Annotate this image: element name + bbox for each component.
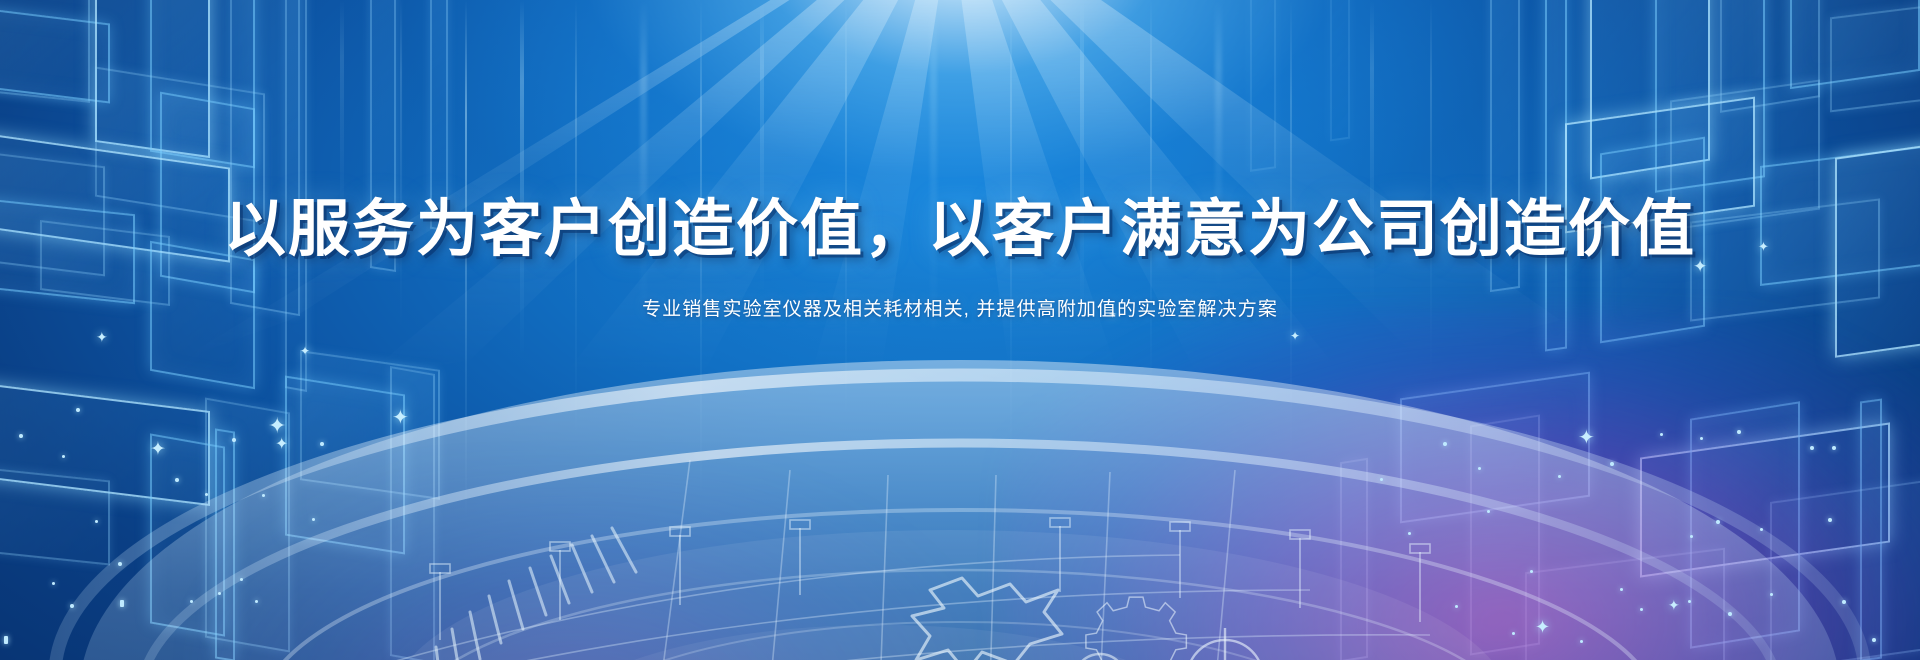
particle-dot xyxy=(1580,640,1583,643)
particle-star: ✦ xyxy=(1535,618,1550,636)
particle-dot xyxy=(262,494,265,497)
particle-dot xyxy=(1828,518,1832,522)
particle-dot xyxy=(1690,535,1693,538)
particle-dot xyxy=(1760,528,1763,531)
particle-dot xyxy=(1408,532,1411,535)
particle-dot xyxy=(1842,600,1846,604)
particle-dot xyxy=(1380,478,1383,481)
particle-dot xyxy=(205,493,208,496)
particle-dot xyxy=(1530,570,1533,573)
particle-star: ✦ xyxy=(1668,598,1680,612)
particle-star: ✦ xyxy=(275,437,288,453)
particle-dot xyxy=(240,578,243,581)
particle-dot xyxy=(1700,437,1703,440)
particle-dot xyxy=(95,520,98,523)
particle-dot xyxy=(1728,612,1732,616)
particle-dot xyxy=(1810,446,1814,450)
particle-dot xyxy=(1832,446,1836,450)
particle-dot xyxy=(320,442,324,446)
particle-dot xyxy=(1558,475,1561,478)
particle-dot xyxy=(19,434,23,438)
particle-dot xyxy=(76,408,80,412)
particle-dot xyxy=(1620,588,1623,591)
particle-dot xyxy=(62,455,65,458)
hero-banner: ✦ ✦ ✦ ✦ ✦ ✦ ✦ ✦ ✦ xyxy=(0,0,1920,660)
particle-star: ✦ xyxy=(268,415,286,437)
particle-dot xyxy=(1455,605,1458,608)
particle-dot xyxy=(1443,442,1447,446)
particle-dot xyxy=(118,562,122,566)
particle-dot xyxy=(175,478,179,482)
particle-dot xyxy=(1478,467,1481,470)
particle-dot xyxy=(190,600,193,603)
particle-dot xyxy=(1640,608,1643,611)
particle-dot xyxy=(1610,462,1614,466)
particle-dot xyxy=(218,592,221,595)
particle-dot xyxy=(1688,600,1691,603)
particle-dot xyxy=(120,600,124,607)
particle-dot xyxy=(1660,433,1663,436)
particle-star: ✦ xyxy=(300,345,310,357)
particle-star: ✦ xyxy=(1758,240,1769,253)
orbit-globe-graphic xyxy=(0,260,1920,660)
particle-dot xyxy=(255,600,258,603)
particle-dot xyxy=(1770,593,1773,596)
particle-star: ✦ xyxy=(1290,330,1300,342)
particle-star: ✦ xyxy=(392,408,409,428)
particle-star: ✦ xyxy=(1108,310,1117,321)
particle-dot xyxy=(1737,430,1741,434)
particle-dot xyxy=(52,582,55,585)
particle-dot xyxy=(312,518,315,521)
particle-dot xyxy=(1716,520,1720,524)
particle-dot xyxy=(232,438,236,442)
particle-dot xyxy=(1872,638,1876,642)
particle-dot xyxy=(1487,510,1490,513)
particle-star: ✦ xyxy=(150,440,166,459)
particle-dot xyxy=(4,636,8,644)
particle-star: ✦ xyxy=(1693,258,1707,275)
particle-dot xyxy=(70,604,74,608)
particle-star: ✦ xyxy=(96,330,108,344)
particle-dot xyxy=(1512,632,1515,635)
particle-star: ✦ xyxy=(1578,428,1595,448)
